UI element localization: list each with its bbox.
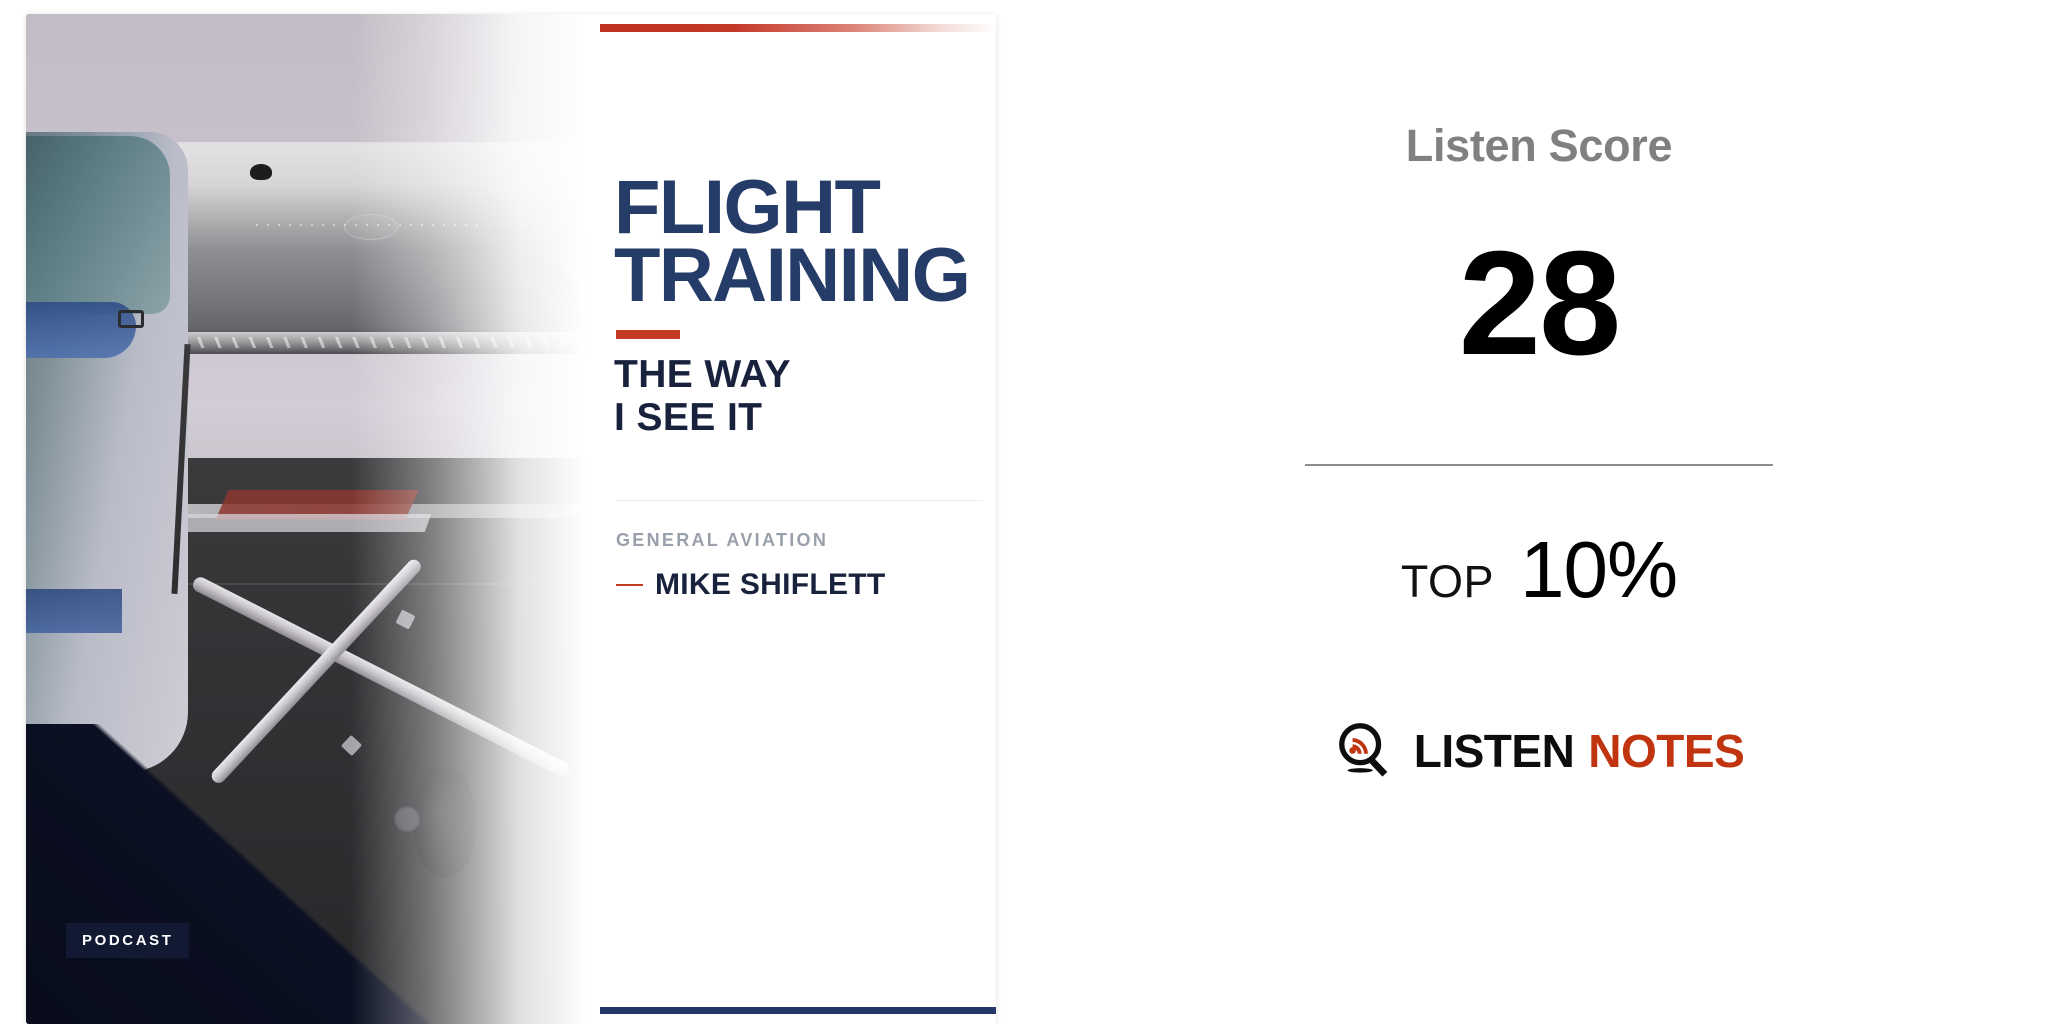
listen-score-widget: PODCAST FLIGHT TRAINING THE WAY I SEE IT…	[0, 0, 2048, 1024]
brand-word-notes: NOTES	[1588, 725, 1744, 777]
artwork-text-block: FLIGHT TRAINING THE WAY I SEE IT GENERAL…	[614, 174, 986, 602]
artwork-author-row: MIKE SHIFLETT	[616, 568, 986, 602]
title-accent-rule	[616, 330, 680, 339]
artwork-genre: GENERAL AVIATION	[616, 530, 986, 551]
listen-score-value: 28	[1305, 230, 1773, 378]
podcast-artwork[interactable]: PODCAST FLIGHT TRAINING THE WAY I SEE IT…	[26, 14, 996, 1024]
artwork-text-card: FLIGHT TRAINING THE WAY I SEE IT GENERAL…	[586, 14, 996, 1024]
artwork-subtitle-line1: THE WAY	[614, 353, 986, 397]
listen-notes-logo[interactable]: LISTENNOTES	[1305, 720, 1773, 782]
podcast-badge: PODCAST	[66, 923, 189, 958]
rank-value: 10%	[1520, 524, 1677, 616]
artwork-title-line2: TRAINING	[614, 242, 986, 310]
artwork-title-line1: FLIGHT	[614, 174, 986, 242]
card-bottom-accent-bar	[600, 1007, 996, 1014]
card-hairline-divider	[616, 500, 983, 501]
rank-label: TOP	[1401, 556, 1494, 608]
author-dash-icon	[616, 584, 643, 586]
global-rank-row: TOP 10%	[1305, 524, 1773, 616]
card-top-accent-bar	[600, 24, 996, 32]
photo-fade-gradient	[26, 14, 586, 1024]
listen-notes-wordmark: LISTENNOTES	[1414, 724, 1745, 778]
magnifier-rss-icon	[1334, 720, 1396, 782]
artwork-author: MIKE SHIFLETT	[655, 568, 886, 602]
brand-word-listen: LISTEN	[1414, 725, 1575, 777]
listen-score-panel: Listen Score 28 TOP 10%	[1305, 120, 1773, 782]
score-divider	[1305, 464, 1773, 466]
artwork-subtitle-line2: I SEE IT	[614, 396, 986, 440]
listen-score-label: Listen Score	[1305, 120, 1773, 172]
cover-photo: PODCAST	[26, 14, 586, 1024]
